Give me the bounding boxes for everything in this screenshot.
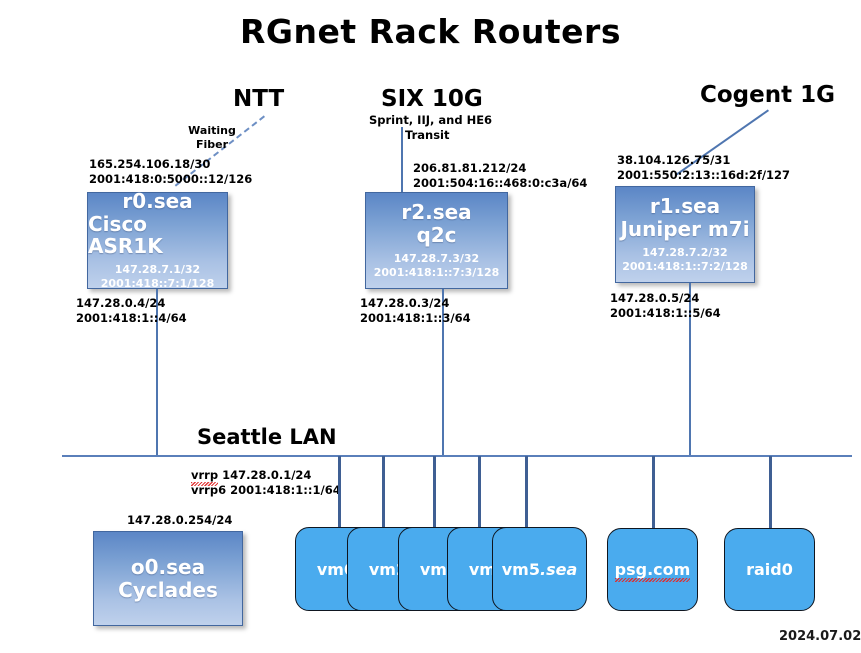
router-hostname: r0.sea <box>122 190 192 212</box>
router-hostname: r2.sea <box>401 201 471 223</box>
lan-vrrp-addresses: vrrp 147.28.0.1/24 vrrp6 2001:418:1::1/6… <box>191 468 341 497</box>
service-label: psg.com <box>615 560 691 579</box>
lan-addresses-r2: 147.28.0.3/24 2001:418:1::3/64 <box>360 296 471 325</box>
page-title: RGnet Rack Routers <box>0 12 861 51</box>
service-box-raid0[interactable]: raid0 <box>724 528 815 611</box>
vm-box-4[interactable]: vm5.sea <box>492 527 587 611</box>
router-model: q2c <box>416 224 456 246</box>
uplink-addresses-ntt: 165.254.106.18/30 2001:418:0:5000::12/12… <box>89 157 252 186</box>
router-box-r2-sea[interactable]: r2.sea q2c 147.28.7.3/32 2001:418:1::7:3… <box>365 192 508 289</box>
uplink-label-six: SIX 10G <box>381 86 483 112</box>
service-box-psg-com[interactable]: psg.com <box>607 528 698 611</box>
vrrp-v4-address: 147.28.0.1/24 <box>218 468 311 482</box>
vm-label: vm5.sea <box>502 560 577 579</box>
router-model: Cisco ASR1K <box>88 213 227 258</box>
uplink-line-six <box>401 127 403 193</box>
router-loopback-v6: 2001:418:1::7:2/128 <box>622 260 748 274</box>
router-model: Juniper m7i <box>620 218 749 240</box>
console-model: Cyclades <box>118 579 218 601</box>
uplink-label-ntt: NTT <box>233 86 284 112</box>
router-box-r1-sea[interactable]: r1.sea Juniper m7i 147.28.7.2/32 2001:41… <box>615 186 755 283</box>
uplink-note-six: Sprint, IIJ, and HE6 Transit <box>369 113 492 142</box>
console-ip-label: 147.28.0.254/24 <box>127 513 232 528</box>
router-loopback-v4: 147.28.7.2/32 <box>642 246 727 260</box>
vm-drop-line-3 <box>478 456 481 532</box>
console-hostname: o0.sea <box>131 556 205 578</box>
service-drop-line-1 <box>769 456 772 528</box>
uplink-addresses-six: 206.81.81.212/24 2001:504:16::468:0:c3a/… <box>413 161 587 190</box>
uplink-note-ntt: Waiting Fiber <box>175 124 249 152</box>
lan-bus-line <box>62 455 852 457</box>
vm-drop-line-4 <box>525 456 528 532</box>
vm-drop-line-2 <box>433 456 436 532</box>
footer-date: 2024.07.02 <box>779 629 861 644</box>
router-box-r0-sea[interactable]: r0.sea Cisco ASR1K 147.28.7.1/32 2001:41… <box>87 192 228 289</box>
service-label: raid0 <box>746 560 793 579</box>
lan-addresses-r1: 147.28.0.5/24 2001:418:1::5/64 <box>610 291 721 320</box>
uplink-label-cogent: Cogent 1G <box>700 82 835 108</box>
vrrp-word: vrrp <box>191 468 218 483</box>
router-loopback-v6: 2001:418:1::7:3/128 <box>374 266 500 280</box>
service-drop-line-0 <box>652 456 655 528</box>
router-loopback-v4: 147.28.7.3/32 <box>394 252 479 266</box>
lan-addresses-r0: 147.28.0.4/24 2001:418:1::4/64 <box>76 296 187 325</box>
router-loopback-v4: 147.28.7.1/32 <box>115 263 200 277</box>
uplink-addresses-cogent: 38.104.126.75/31 2001:550:2:13::16d:2f/1… <box>617 153 790 182</box>
vm-drop-line-1 <box>382 456 385 532</box>
vm-drop-line-0 <box>338 456 341 532</box>
router-hostname: r1.sea <box>650 195 720 217</box>
diagram-canvas: RGnet Rack Routers NTT Waiting Fiber 165… <box>0 0 861 653</box>
console-box-o0-sea[interactable]: o0.sea Cyclades <box>93 531 243 626</box>
lan-title: Seattle LAN <box>197 425 337 449</box>
